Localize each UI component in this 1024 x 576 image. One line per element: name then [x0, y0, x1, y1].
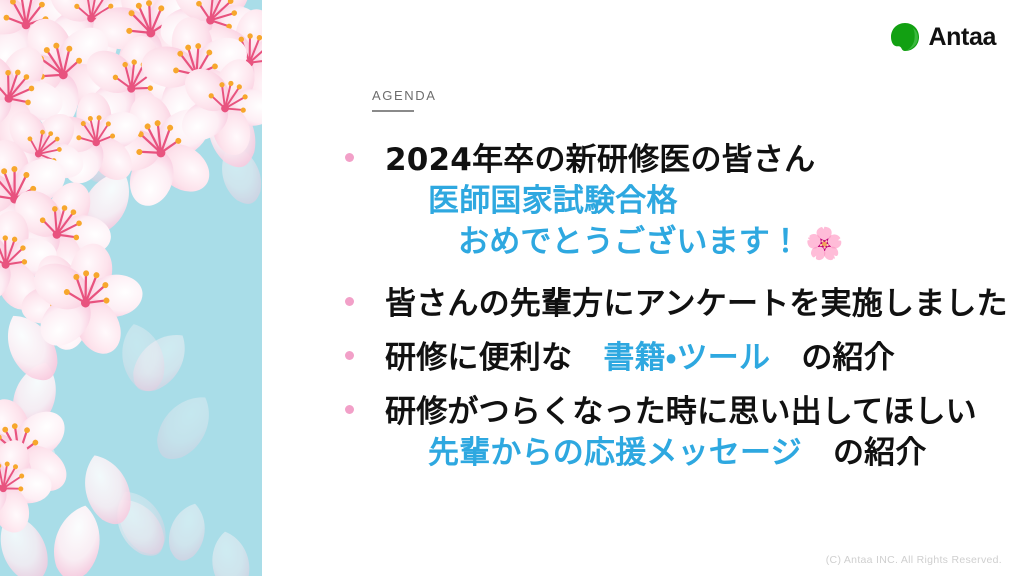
bullet-dot-icon	[345, 153, 354, 162]
agenda-bullet-item: 研修に便利な 書籍・ツール の紹介	[340, 338, 1000, 386]
cherry-blossom-icon: 🌸	[805, 226, 844, 262]
agenda-highlight-text: 書籍・ツール	[603, 340, 770, 376]
agenda-bullet-item: 皆さんの先輩方にアンケートを実施しました	[340, 284, 1000, 332]
antaa-leaf-icon	[890, 22, 920, 52]
agenda-highlight-text: 先輩からの応援メッセージ	[428, 435, 802, 471]
agenda-highlight-text: おめでとうございます！	[458, 224, 801, 260]
agenda-text: の紹介	[802, 435, 927, 471]
agenda-header: AGENDA	[372, 88, 437, 112]
agenda-line: 皆さんの先輩方にアンケートを実施しました	[340, 284, 1000, 325]
agenda-label: AGENDA	[372, 88, 437, 103]
agenda-line: 研修に便利な 書籍・ツール の紹介	[340, 338, 1000, 379]
agenda-line: 研修がつらくなった時に思い出してほしい	[340, 392, 1000, 433]
antaa-logo: Antaa	[890, 22, 996, 52]
agenda-line: おめでとうございます！🌸	[340, 222, 1000, 265]
agenda-line: 2024年卒の新研修医の皆さん	[340, 140, 1000, 181]
agenda-text: 2024年卒の新研修医の皆さん	[385, 142, 815, 178]
agenda-underline	[372, 110, 414, 112]
copyright-footer: (C) Antaa INC. All Rights Reserved.	[826, 554, 1002, 566]
agenda-line: 医師国家試験合格	[340, 181, 1000, 222]
sakura-illustration-panel	[0, 0, 262, 576]
bullet-dot-icon	[345, 297, 354, 306]
agenda-text: 皆さんの先輩方にアンケートを実施しました	[385, 286, 1008, 322]
agenda-line: 先輩からの応援メッセージ の紹介	[340, 433, 1000, 474]
spacer	[340, 266, 1000, 278]
agenda-bullet-item: 研修がつらくなった時に思い出してほしい先輩からの応援メッセージ の紹介	[340, 392, 1000, 481]
spacer	[340, 475, 1000, 482]
spacer	[340, 379, 1000, 386]
spacer	[340, 325, 1000, 332]
antaa-wordmark: Antaa	[929, 25, 996, 50]
agenda-text: 研修に便利な	[385, 340, 603, 376]
agenda-list: 2024年卒の新研修医の皆さん医師国家試験合格おめでとうございます！🌸皆さんの先…	[340, 140, 1000, 488]
slide-root: Antaa AGENDA 2024年卒の新研修医の皆さん医師国家試験合格おめでと…	[0, 0, 1024, 576]
agenda-text: の紹介	[770, 340, 895, 376]
bullet-dot-icon	[345, 351, 354, 360]
agenda-bullet-item: 2024年卒の新研修医の皆さん医師国家試験合格おめでとうございます！🌸	[340, 140, 1000, 278]
agenda-highlight-text: 医師国家試験合格	[428, 183, 678, 219]
agenda-text: 研修がつらくなった時に思い出してほしい	[385, 394, 977, 430]
